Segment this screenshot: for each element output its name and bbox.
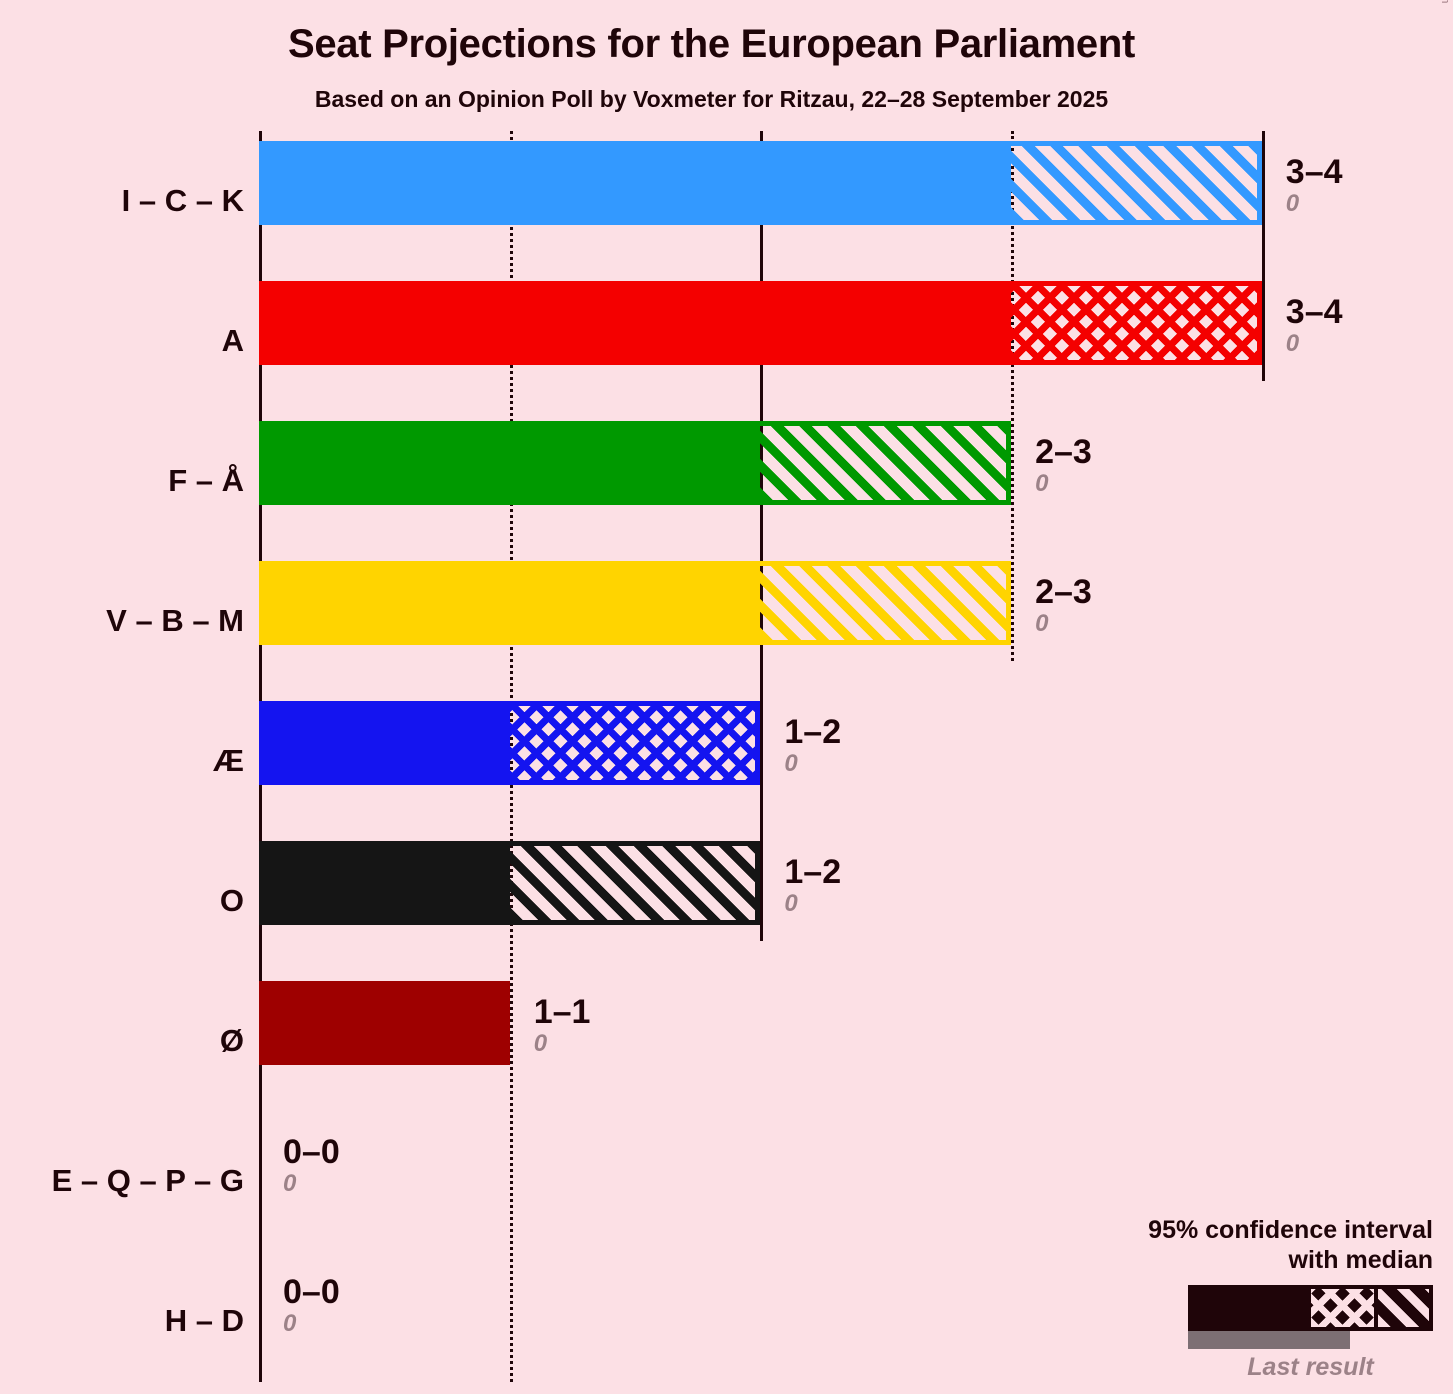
seat-bar[interactable] xyxy=(259,701,760,785)
seat-bar[interactable] xyxy=(259,281,1262,365)
bar-row: Æ1–20 xyxy=(0,691,1453,831)
chart-root: Seat Projections for the European Parlia… xyxy=(0,0,1453,1394)
seat-range-label: 1–2 xyxy=(784,853,841,891)
legend-last-result-bar xyxy=(1188,1331,1350,1349)
category-label: I – C – K xyxy=(0,131,244,271)
plot-area: I – C – K3–40A3–40F – Å2–30V – B – M2–30… xyxy=(0,0,1453,1394)
last-result-label: 0 xyxy=(1035,611,1092,637)
bar-median-segment xyxy=(259,841,510,925)
bar-value-block: 0–00 xyxy=(283,1273,340,1337)
seat-bar[interactable] xyxy=(259,841,760,925)
seat-range-label: 2–3 xyxy=(1035,433,1092,471)
bar-median-segment xyxy=(259,561,760,645)
legend-last-result-label: Last result xyxy=(1188,1349,1433,1382)
bar-confidence-interval-segment xyxy=(760,561,1011,645)
seat-range-label: 3–4 xyxy=(1286,293,1343,331)
legend: 95% confidence interval with median Last… xyxy=(1103,1215,1433,1382)
bar-row: I – C – K3–40 xyxy=(0,131,1453,271)
category-label: E – Q – P – G xyxy=(0,1111,244,1251)
category-label: A xyxy=(0,271,244,411)
category-label: O xyxy=(0,831,244,971)
seat-bar[interactable] xyxy=(259,981,510,1065)
bar-confidence-interval-segment xyxy=(510,841,761,925)
last-result-label: 0 xyxy=(534,1031,591,1057)
bar-median-segment xyxy=(259,421,760,505)
bar-value-block: 1–20 xyxy=(784,853,841,917)
last-result-label: 0 xyxy=(1286,191,1343,217)
legend-line-2: with median xyxy=(1103,1245,1433,1275)
last-result-label: 0 xyxy=(283,1171,340,1197)
bar-value-block: 3–40 xyxy=(1286,293,1343,357)
seat-bar[interactable] xyxy=(259,421,1011,505)
bar-median-segment xyxy=(259,981,510,1065)
category-label: V – B – M xyxy=(0,551,244,691)
seat-bar[interactable] xyxy=(259,561,1011,645)
legend-diagonal-hatch-segment xyxy=(1374,1289,1429,1327)
category-label: F – Å xyxy=(0,411,244,551)
bar-row: V – B – M2–30 xyxy=(0,551,1453,691)
seat-bar[interactable] xyxy=(259,141,1262,225)
bar-row: Ø1–10 xyxy=(0,971,1453,1111)
bar-confidence-interval-segment xyxy=(760,421,1011,505)
bar-value-block: 3–40 xyxy=(1286,153,1343,217)
bar-median-segment xyxy=(259,281,1011,365)
legend-line-1: 95% confidence interval xyxy=(1103,1215,1433,1245)
seat-range-label: 2–3 xyxy=(1035,573,1092,611)
bar-row: O1–20 xyxy=(0,831,1453,971)
category-label: Æ xyxy=(0,691,244,831)
last-result-label: 0 xyxy=(784,751,841,777)
seat-range-label: 1–1 xyxy=(534,993,591,1031)
last-result-label: 0 xyxy=(1035,471,1092,497)
bar-median-segment xyxy=(259,141,1011,225)
bar-row: A3–40 xyxy=(0,271,1453,411)
legend-ci-bar xyxy=(1188,1285,1433,1331)
last-result-label: 0 xyxy=(784,891,841,917)
seat-range-label: 3–4 xyxy=(1286,153,1343,191)
bar-value-block: 1–10 xyxy=(534,993,591,1057)
category-label: Ø xyxy=(0,971,244,1111)
bar-value-block: 1–20 xyxy=(784,713,841,777)
seat-range-label: 0–0 xyxy=(283,1133,340,1171)
seat-range-label: 1–2 xyxy=(784,713,841,751)
bar-value-block: 0–00 xyxy=(283,1133,340,1197)
category-label: H – D xyxy=(0,1251,244,1391)
bar-confidence-interval-segment xyxy=(1011,281,1262,365)
bar-row: F – Å2–30 xyxy=(0,411,1453,551)
seat-range-label: 0–0 xyxy=(283,1273,340,1311)
last-result-label: 0 xyxy=(283,1311,340,1337)
bar-median-segment xyxy=(259,701,510,785)
bar-confidence-interval-segment xyxy=(510,701,761,785)
last-result-label: 0 xyxy=(1286,331,1343,357)
bar-value-block: 2–30 xyxy=(1035,433,1092,497)
bar-value-block: 2–30 xyxy=(1035,573,1092,637)
legend-cross-hatch-segment xyxy=(1311,1289,1375,1327)
bar-confidence-interval-segment xyxy=(1011,141,1262,225)
